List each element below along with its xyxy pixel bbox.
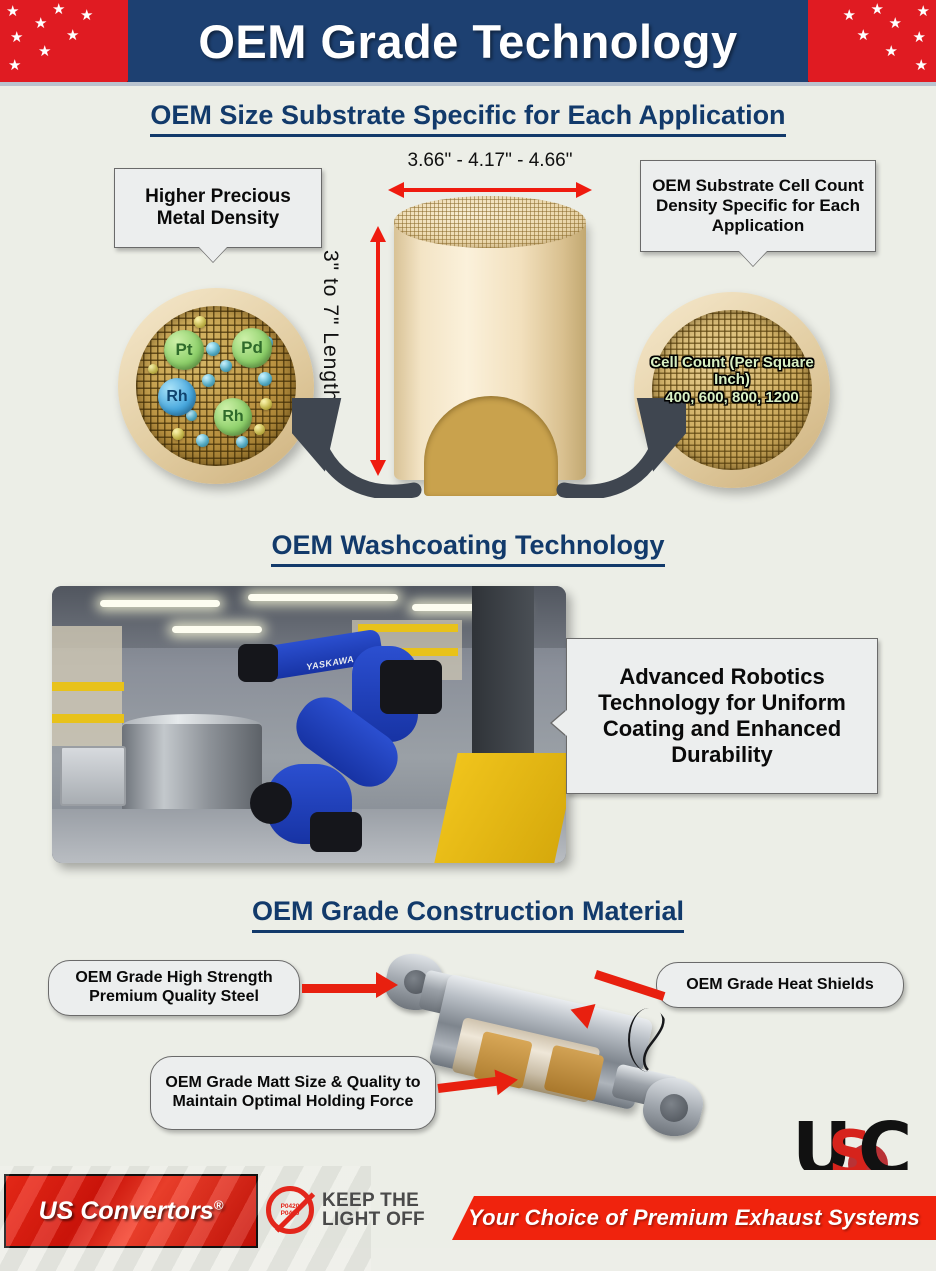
callout-premium-steel: OEM Grade High Strength Premium Quality … xyxy=(48,960,300,1016)
no-check-engine-icon: P0420 P0430 xyxy=(266,1186,314,1234)
section-title-construction: OEM Grade Construction Material xyxy=(0,896,936,933)
precious-metal-pt: Pt xyxy=(164,330,204,370)
curved-arrow-left-icon xyxy=(292,398,422,498)
precious-metal-particle xyxy=(258,372,272,386)
arrow-to-steel-icon xyxy=(302,984,378,993)
infographic-page: ★ ★ ★ ★ ★ ★ ★ ★ ★ ★ ★ ★ ★ ★ ★ ★ OEM Grad… xyxy=(0,0,936,1248)
callout-cell-count-density: OEM Substrate Cell Count Density Specifi… xyxy=(640,160,876,252)
brand-badge: US Convertors® xyxy=(4,1174,258,1248)
page-header: ★ ★ ★ ★ ★ ★ ★ ★ ★ ★ ★ ★ ★ ★ ★ ★ OEM Grad… xyxy=(0,0,936,82)
precious-metal-particle xyxy=(148,364,158,374)
page-title: OEM Grade Technology xyxy=(0,0,936,82)
callout-advanced-robotics: Advanced Robotics Technology for Uniform… xyxy=(566,638,878,794)
precious-metal-particle xyxy=(196,434,209,447)
precious-metal-particle xyxy=(260,398,272,410)
oxygen-sensor-wire-icon xyxy=(628,1008,670,1072)
precious-metal-particle xyxy=(236,436,248,448)
precious-metal-particle xyxy=(254,424,265,435)
precious-metal-rh: Rh xyxy=(214,398,252,436)
washcoating-robot-photo: YASKAWA xyxy=(52,586,566,863)
arrow-head-matt-icon xyxy=(494,1067,519,1095)
curved-arrow-right-icon xyxy=(556,398,686,498)
arrow-head-steel-icon xyxy=(376,972,398,998)
precious-metal-particle xyxy=(220,360,232,372)
callout-matt-size: OEM Grade Matt Size & Quality to Maintai… xyxy=(150,1056,436,1130)
precious-metal-rh: Rh xyxy=(158,378,196,416)
callout-precious-metal-density: Higher Precious Metal Density xyxy=(114,168,322,248)
footer-tagline: Your Choice of Premium Exhaust Systems xyxy=(452,1196,936,1240)
substrate-diameter-label: 3.66" - 4.17" - 4.66" xyxy=(330,150,650,172)
keep-the-light-off-badge: P0420 P0430 KEEP THE LIGHT OFF xyxy=(266,1184,446,1236)
precious-metal-pd: Pd xyxy=(232,328,272,368)
precious-metal-particle xyxy=(172,428,184,440)
header-divider xyxy=(0,82,936,86)
section-title-washcoating: OEM Washcoating Technology xyxy=(0,530,936,567)
section-title-substrate: OEM Size Substrate Specific for Each App… xyxy=(0,100,936,137)
callout-heat-shields: OEM Grade Heat Shields xyxy=(656,962,904,1008)
precious-metal-disc: PtPdRhRh xyxy=(118,288,314,484)
substrate-length-label: 3" to 7" Length xyxy=(318,250,342,403)
precious-metal-particle xyxy=(206,342,220,356)
cell-count-overlay: Cell Count (Per Square Inch) 400, 600, 8… xyxy=(634,354,830,406)
keep-the-light-off-text: KEEP THE LIGHT OFF xyxy=(322,1191,425,1230)
precious-metal-particle xyxy=(202,374,215,387)
precious-metal-particle xyxy=(194,316,206,328)
